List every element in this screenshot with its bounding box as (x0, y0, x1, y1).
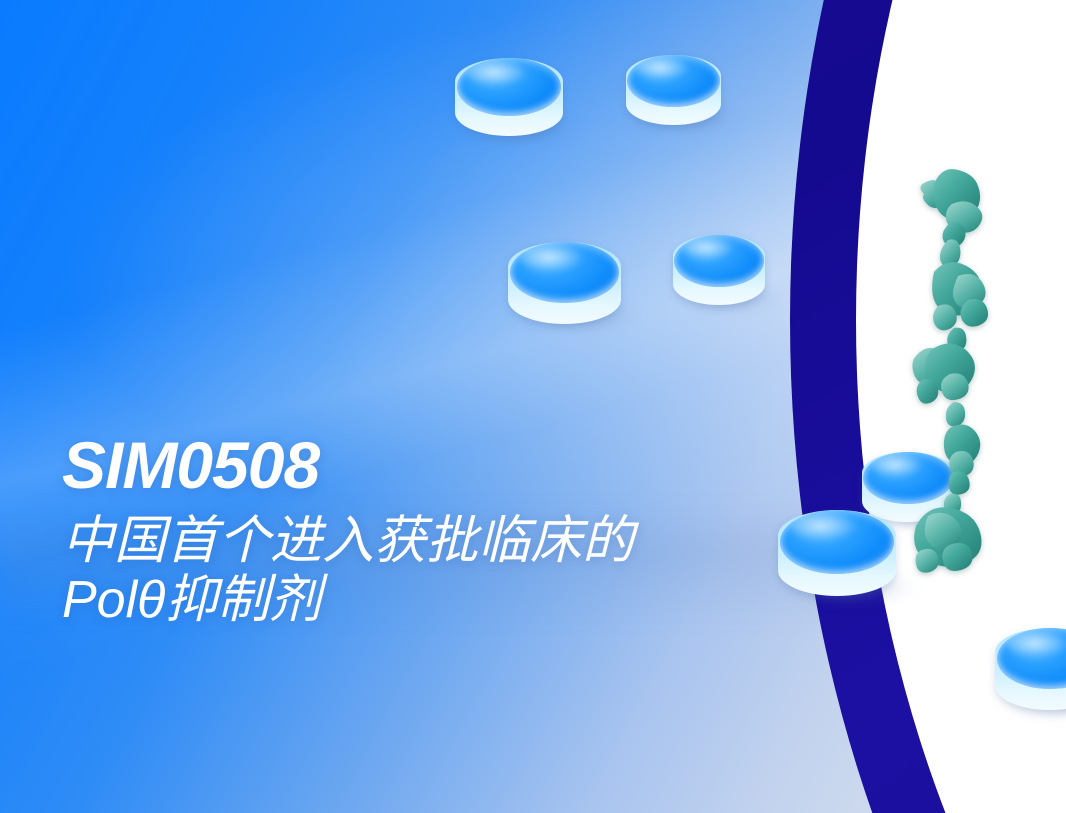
slide-canvas: SIM0508 中国首个进入获批临床的 Polθ抑制剂 (0, 0, 1066, 813)
page-title: SIM0508 (62, 432, 634, 498)
headline-block: SIM0508 中国首个进入获批临床的 Polθ抑制剂 (62, 432, 634, 631)
page-subtitle: 中国首个进入获批临床的 Polθ抑制剂 (62, 512, 634, 631)
